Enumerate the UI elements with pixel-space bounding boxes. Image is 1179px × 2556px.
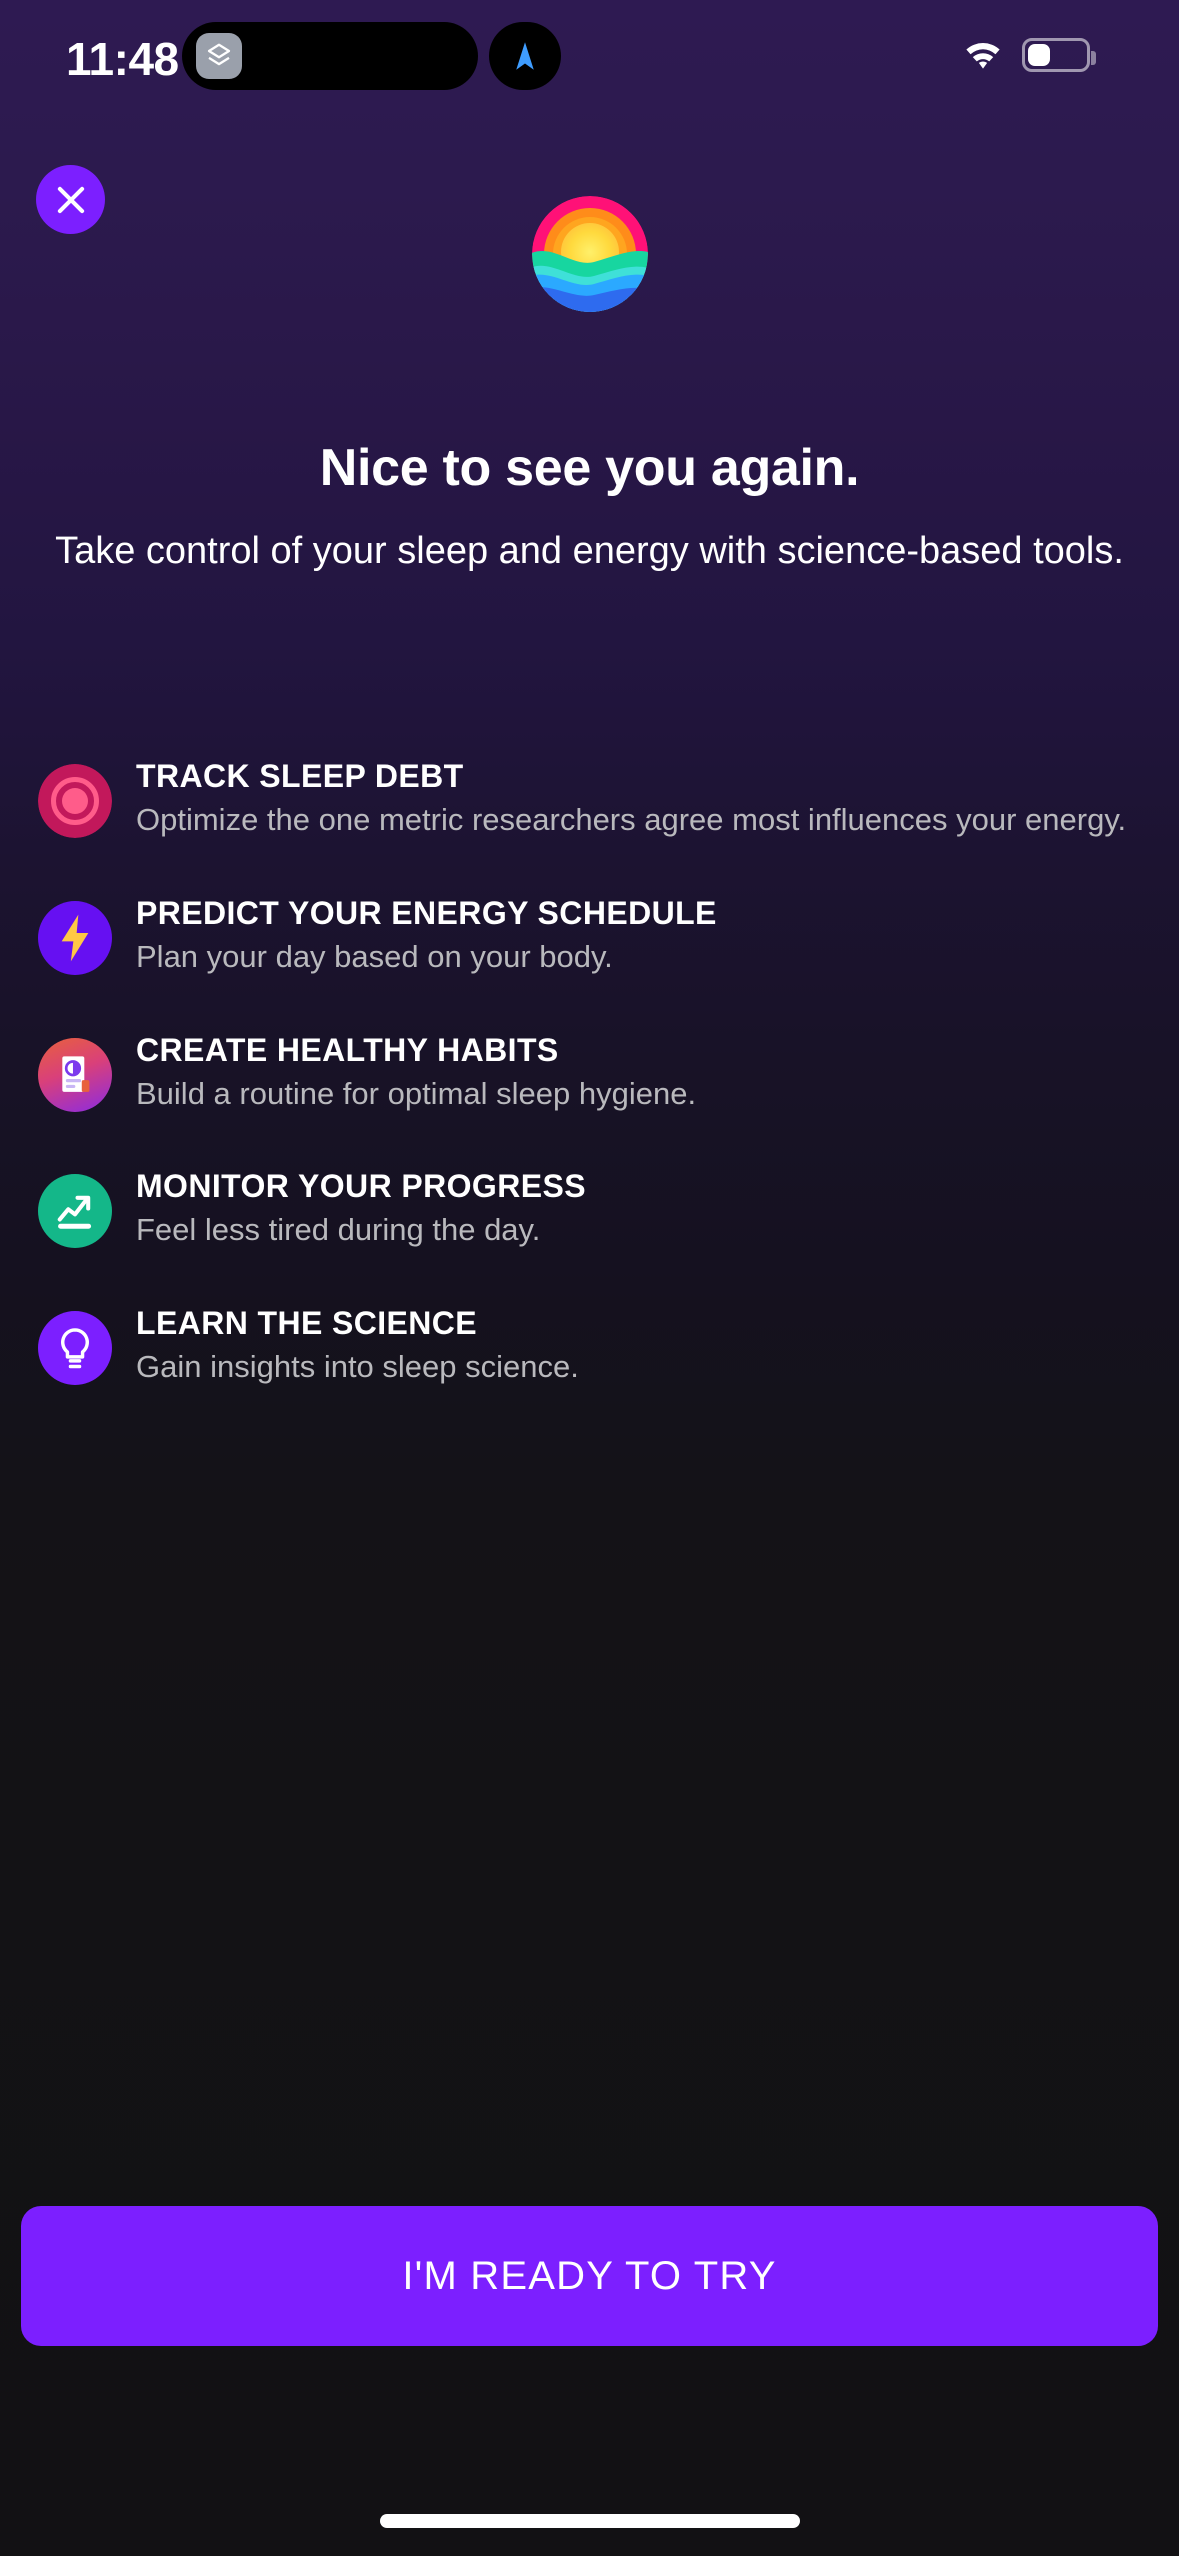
status-bar-clock: 11:48 <box>66 32 179 86</box>
feature-title: TRACK SLEEP DEBT <box>136 758 1179 795</box>
cta-ready-to-try-button[interactable]: I'M READY TO TRY <box>21 2206 1158 2346</box>
list-item: CREATE HEALTHY HABITS Build a routine fo… <box>38 1032 1179 1113</box>
page-subtitle: Take control of your sleep and energy wi… <box>52 528 1127 574</box>
feature-description: Gain insights into sleep science. <box>136 1348 1179 1386</box>
layers-stack-icon[interactable] <box>196 33 242 79</box>
target-rings-icon <box>38 764 112 838</box>
page-title: Nice to see you again. <box>0 438 1179 498</box>
feature-list: TRACK SLEEP DEBT Optimize the one metric… <box>38 758 1179 1442</box>
feature-title: PREDICT YOUR ENERGY SCHEDULE <box>136 895 1179 932</box>
app-logo-container <box>0 196 1179 312</box>
rise-sunrise-logo <box>532 196 648 312</box>
feature-title: MONITOR YOUR PROGRESS <box>136 1168 1179 1205</box>
home-indicator[interactable] <box>380 2514 800 2528</box>
feature-description: Feel less tired during the day. <box>136 1211 1179 1249</box>
location-arrow-icon <box>510 38 540 74</box>
feature-description: Optimize the one metric researchers agre… <box>136 801 1179 839</box>
app-screen: 11:48 <box>0 0 1179 2556</box>
list-item: LEARN THE SCIENCE Gain insights into sle… <box>38 1305 1179 1386</box>
location-indicator-pill[interactable] <box>489 22 561 90</box>
list-item: PREDICT YOUR ENERGY SCHEDULE Plan your d… <box>38 895 1179 976</box>
list-item: TRACK SLEEP DEBT Optimize the one metric… <box>38 758 1179 839</box>
document-checklist-icon <box>38 1038 112 1112</box>
battery-fill <box>1028 44 1050 66</box>
battery-low-icon <box>1022 38 1090 72</box>
feature-description: Plan your day based on your body. <box>136 938 1179 976</box>
wifi-icon <box>960 38 1006 72</box>
trending-up-arrow-icon <box>38 1174 112 1248</box>
dynamic-island[interactable] <box>182 22 478 90</box>
cta-label: I'M READY TO TRY <box>402 2254 776 2299</box>
lightning-bolt-icon <box>38 901 112 975</box>
feature-description: Build a routine for optimal sleep hygien… <box>136 1075 1179 1113</box>
feature-title: LEARN THE SCIENCE <box>136 1305 1179 1342</box>
status-bar: 11:48 <box>0 0 1179 110</box>
list-item: MONITOR YOUR PROGRESS Feel less tired du… <box>38 1168 1179 1249</box>
lightbulb-icon <box>38 1311 112 1385</box>
feature-title: CREATE HEALTHY HABITS <box>136 1032 1179 1069</box>
